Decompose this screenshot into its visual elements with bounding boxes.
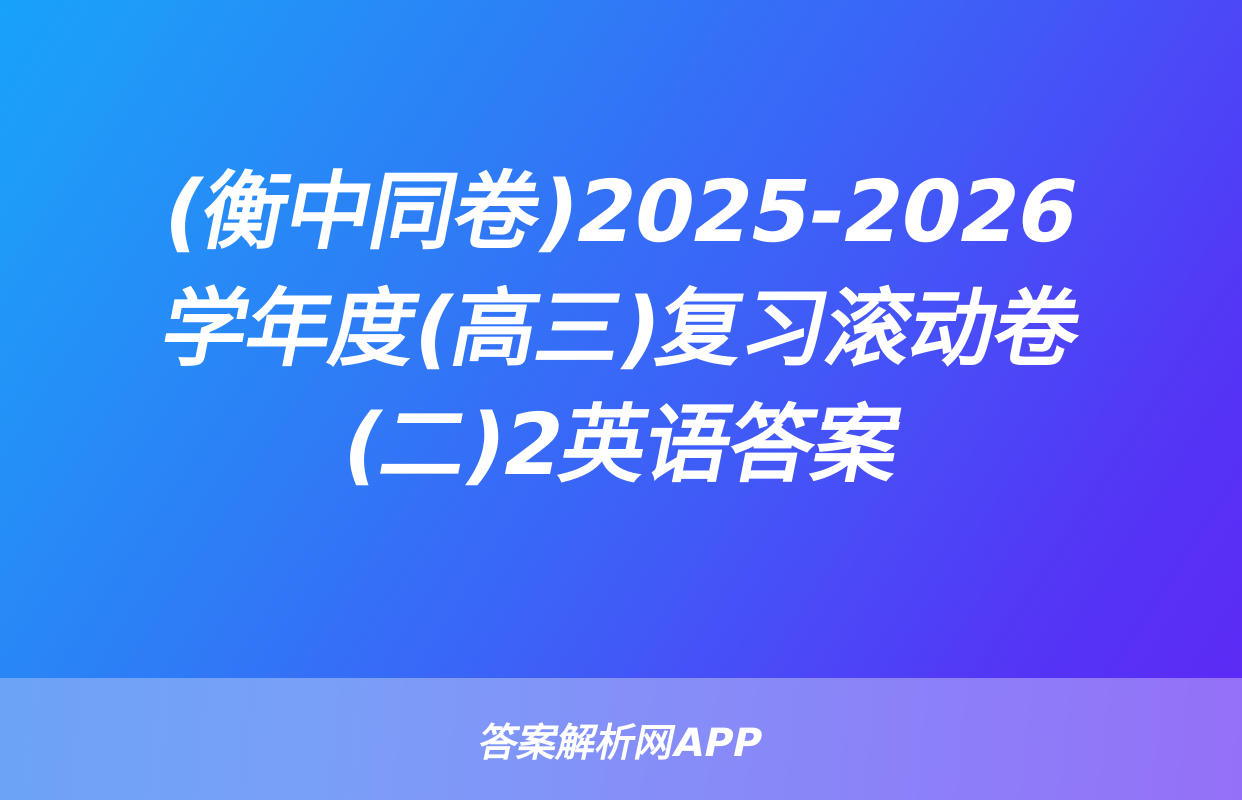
title-block: (衡中同卷)2025-2026 学年度(高三)复习滚动卷 (二)2英语答案	[0, 0, 1242, 678]
watermark-label: 答案解析网APP	[474, 712, 768, 768]
title-line-2: 学年度(高三)复习滚动卷	[152, 272, 1090, 388]
footer-watermark-band: 答案解析网APP	[0, 678, 1242, 800]
poster-canvas: (衡中同卷)2025-2026 学年度(高三)复习滚动卷 (二)2英语答案 答案…	[0, 0, 1242, 800]
title-line-1: (衡中同卷)2025-2026	[154, 155, 1088, 271]
title-line-3: (二)2英语答案	[333, 388, 909, 504]
